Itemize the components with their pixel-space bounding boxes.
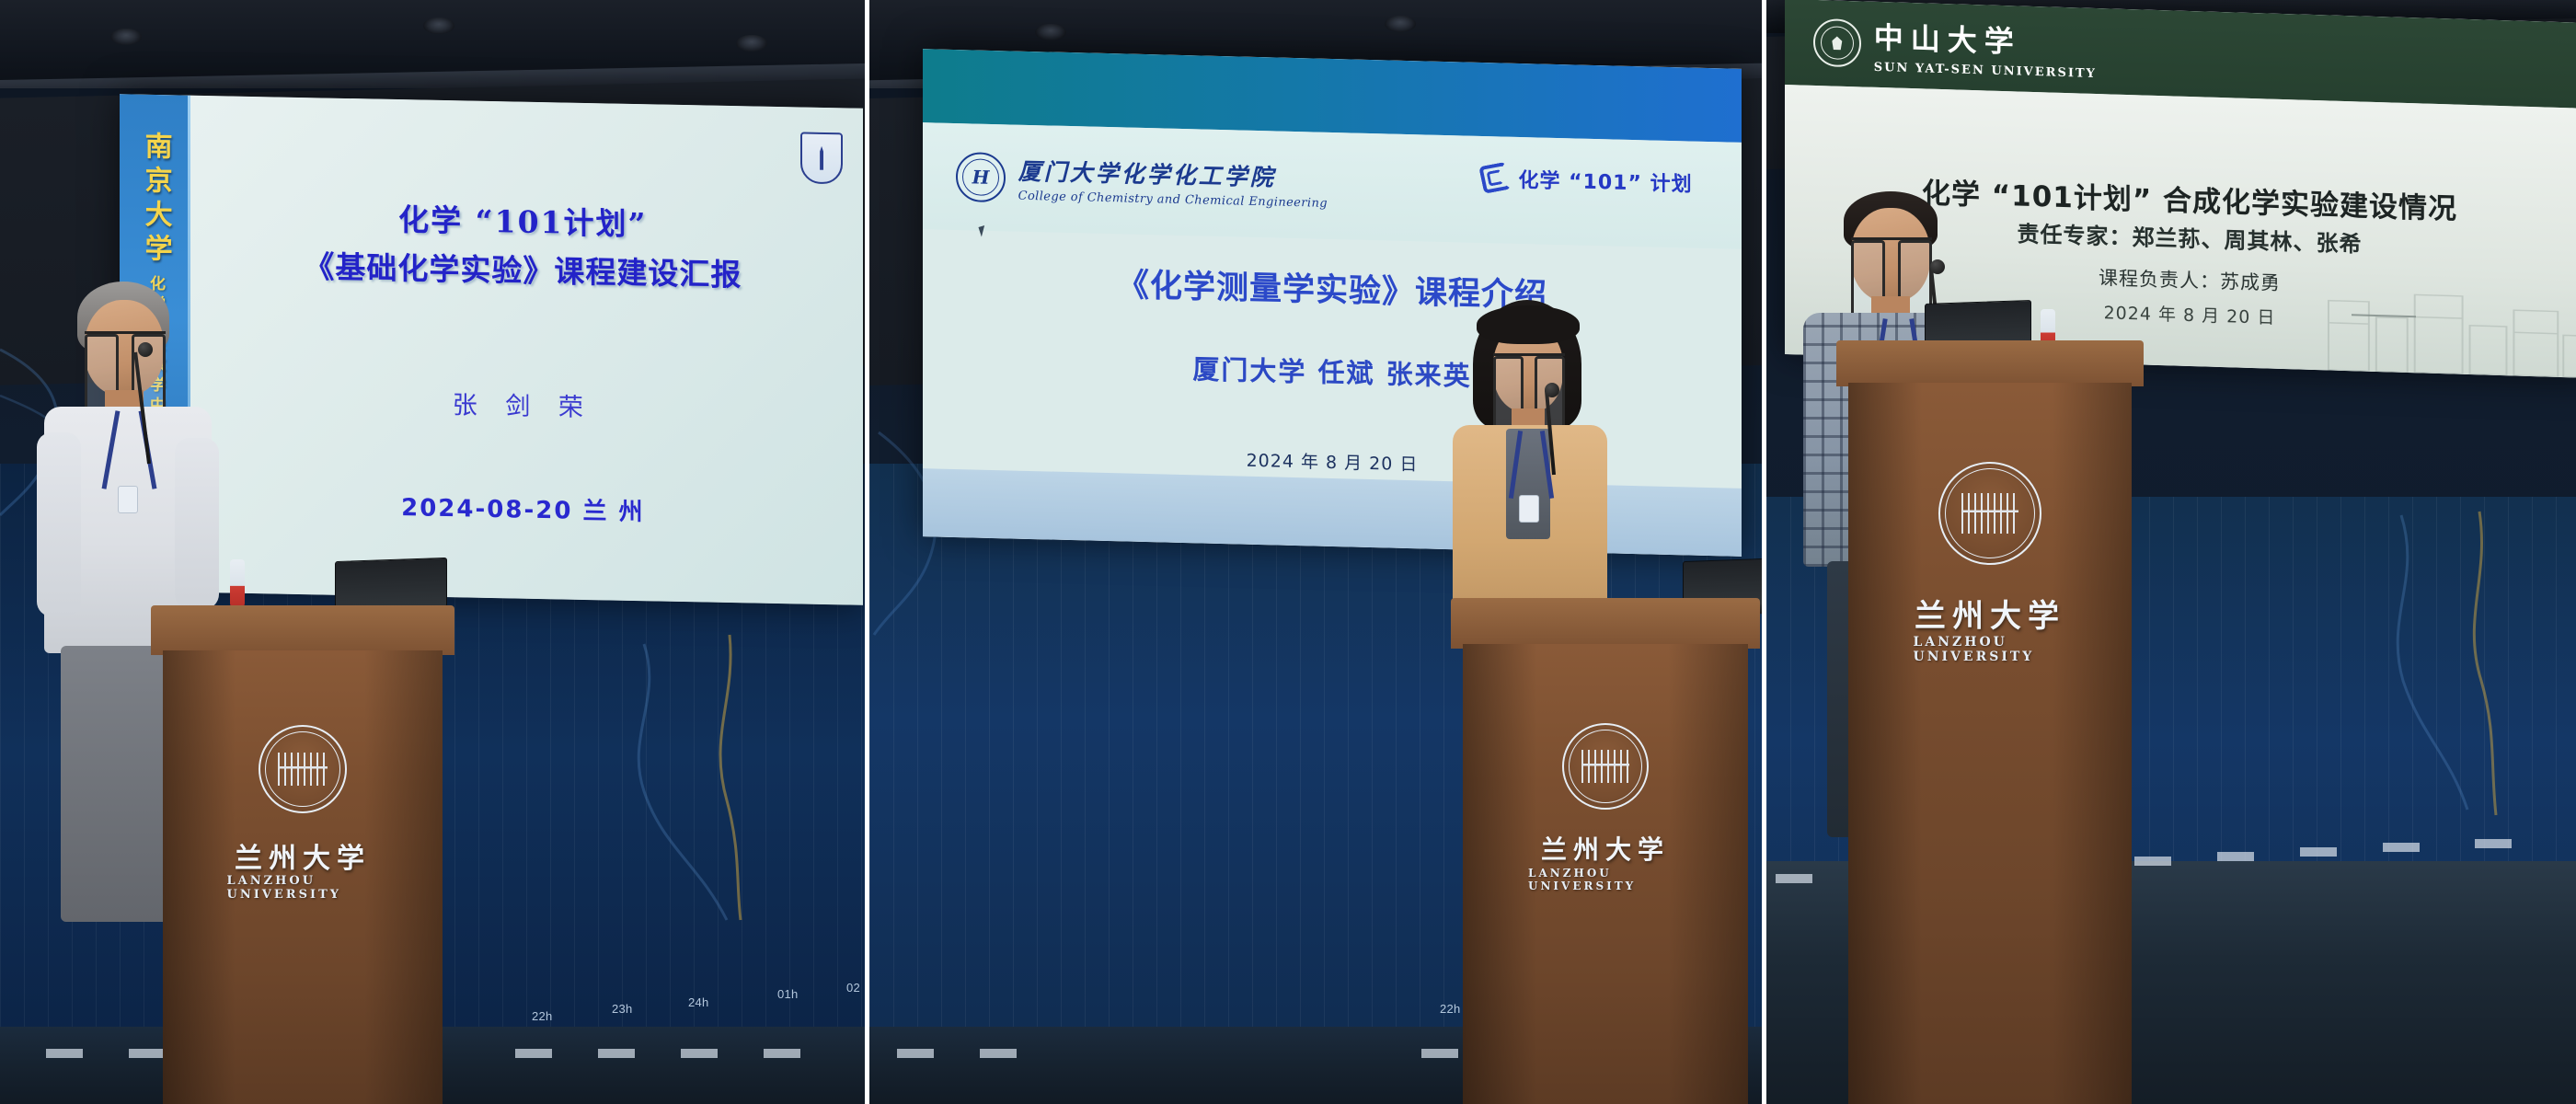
hour-label: 22h	[532, 1009, 553, 1023]
seal-building-mark	[278, 753, 327, 787]
panel-sun-yat-sen-university: 17h 18h 22h 23h 24h 01h 02h 中山大学	[1766, 0, 2576, 1104]
name-badge	[118, 486, 138, 513]
lanzhou-university-seal	[1562, 723, 1649, 810]
hour-label: 02	[846, 981, 860, 995]
org-name-en: SUN YAT-SEN UNIVERSITY	[1874, 61, 2097, 81]
lanzhou-university-seal	[1938, 462, 2041, 565]
floor-marker	[515, 1049, 552, 1058]
slide-body: 化学 “101计划” 《基础化学实验》课程建设汇报 张 剑 荣 2024-08-…	[190, 96, 863, 605]
photo-triptych: 17h 22h 23h 24h 01h 02 南京大学 化学实验教学中心	[0, 0, 2576, 1104]
arm-right	[175, 438, 219, 609]
lectern-top	[1451, 598, 1760, 649]
org-names: 中山大学 SUN YAT-SEN UNIVERSITY	[1874, 15, 2097, 81]
program-badge-label: 化学 “101” 计划	[1518, 164, 1692, 198]
sidebar-university-name: 南京大学	[138, 132, 172, 269]
laptop-screen	[335, 558, 447, 611]
podium-university-name-cn: 兰州大学	[1915, 591, 2065, 636]
lectern: 兰州大学 LANZHOU UNIVERSITY	[1451, 598, 1760, 1104]
floor-marker	[897, 1049, 934, 1058]
floor-marker	[681, 1049, 718, 1058]
floor-marker	[2217, 852, 2254, 861]
microphone-head	[1545, 383, 1559, 397]
panel-xiamen-university: 17h 18h 22h 23h 24h 01h H 厦门大学化学化工学院	[869, 0, 1762, 1104]
lecture-hall-background: 17h 22h 23h 24h 01h 02 南京大学 化学实验教学中心	[0, 0, 865, 1104]
fringe	[1477, 305, 1580, 344]
podium-university-name-en: LANZHOU UNIVERSITY	[1528, 867, 1683, 892]
floor-marker	[764, 1049, 800, 1058]
seal-building-mark	[1961, 493, 2019, 533]
lectern-top	[151, 605, 454, 655]
podium-university-name-cn: 兰州大学	[235, 835, 371, 876]
microphone-head	[138, 342, 153, 357]
water-bottle	[230, 559, 245, 607]
chemistry-101-logo-icon	[1481, 164, 1509, 192]
microphone-head	[1930, 259, 1945, 274]
slide-title-line2: 《基础化学实验》课程建设汇报	[304, 245, 742, 297]
org-name-cn: 厦门大学化学化工学院	[1018, 153, 1328, 193]
hour-label: 01h	[777, 987, 799, 1001]
slide-date-location: 2024-08-20 兰 州	[401, 489, 644, 527]
floor-marker	[598, 1049, 635, 1058]
slide-title-line1: 化学 “101计划”	[398, 198, 647, 247]
lectern: 兰州大学 LANZHOU UNIVERSITY	[151, 605, 454, 1104]
hour-label: 24h	[688, 995, 709, 1009]
org-names: 厦门大学化学化工学院 College of Chemistry and Chem…	[1018, 153, 1328, 210]
floor-marker	[980, 1049, 1017, 1058]
floor-marker	[2300, 847, 2337, 857]
arm-left	[37, 432, 81, 616]
slide-author: 张 剑 荣	[453, 385, 593, 424]
floor-marker	[2383, 843, 2420, 852]
podium-university-name-en: LANZHOU UNIVERSITY	[227, 874, 379, 902]
podium-university-name-en: LANZHOU UNIVERSITY	[1914, 635, 2067, 664]
lecture-hall-background: 17h 18h 22h 23h 24h 01h 02h 中山大学	[1766, 0, 2576, 1104]
xiamen-university-logo: H	[956, 152, 1006, 202]
program-badge: 化学 “101” 计划	[1481, 163, 1692, 198]
hour-label: 23h	[612, 1002, 633, 1016]
podium-university-name-cn: 兰州大学	[1541, 830, 1670, 867]
org-name-cn: 中山大学	[1874, 15, 2097, 63]
nanjing-university-seal	[800, 132, 843, 184]
lectern: 兰州大学 LANZHOU UNIVERSITY	[1836, 340, 2144, 1104]
panel-nanjing-university: 17h 22h 23h 24h 01h 02 南京大学 化学实验教学中心	[0, 0, 865, 1104]
sun-yat-sen-university-logo	[1813, 18, 1861, 68]
floor-marker	[2475, 839, 2512, 848]
lecture-hall-background: 17h 18h 22h 23h 24h 01h H 厦门大学化学化工学院	[869, 0, 1762, 1104]
lanzhou-university-seal	[259, 725, 347, 813]
seal-building-mark	[1581, 750, 1629, 783]
lectern-top	[1836, 340, 2144, 386]
name-badge	[1519, 495, 1539, 523]
